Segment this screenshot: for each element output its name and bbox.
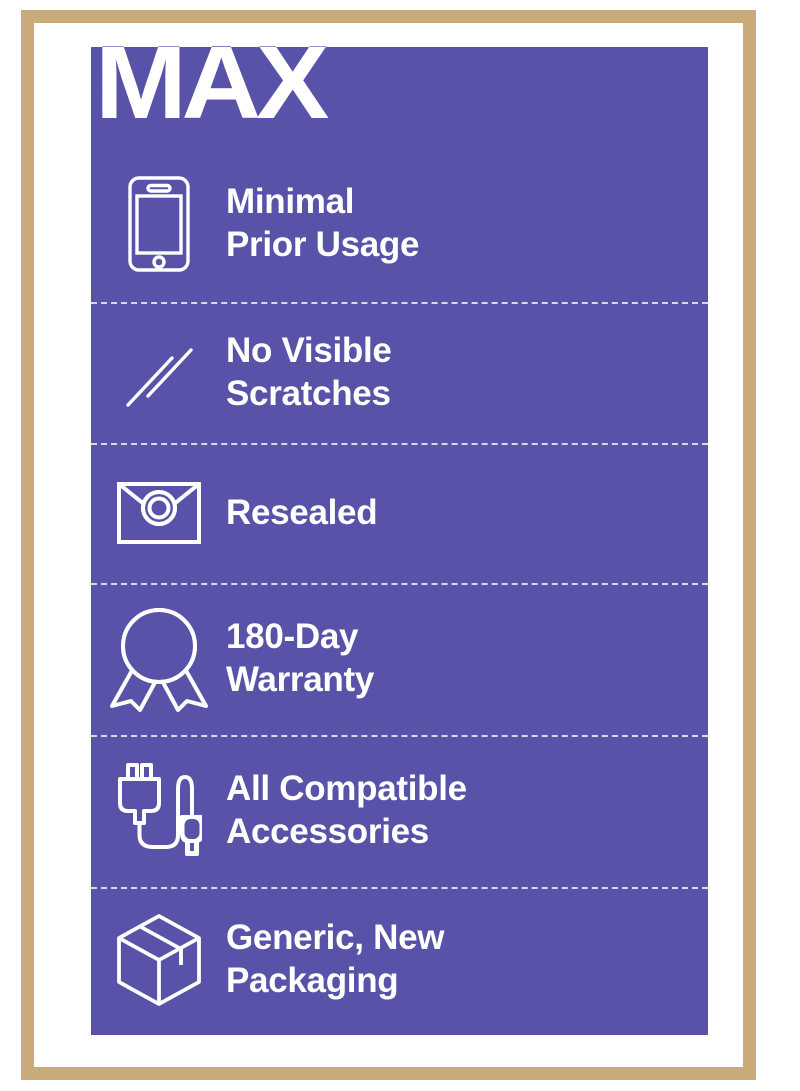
- title-wordmark-lower: MAX: [91, 47, 708, 143]
- smartphone-icon: [91, 175, 226, 273]
- feature-row-resealed: Resealed: [91, 443, 708, 583]
- page-title: MAX: [95, 47, 324, 135]
- feature-row-no-visible-scratches: No Visible Scratches: [91, 302, 708, 443]
- feature-label: No Visible Scratches: [226, 330, 392, 415]
- feature-row-minimal-prior-usage: Minimal Prior Usage: [91, 145, 708, 302]
- usb-cable-icon: [91, 761, 226, 861]
- poster-root: Minimal Prior Usage No Visible Scratches: [0, 0, 800, 1091]
- feature-label: Resealed: [226, 492, 377, 535]
- feature-row-all-compatible-accessories: All Compatible Accessories: [91, 735, 708, 887]
- sealed-envelope-icon: [91, 480, 226, 546]
- award-ribbon-icon: [91, 605, 226, 713]
- feature-row-generic-new-packaging: Generic, New Packaging: [91, 887, 708, 1033]
- feature-label: Minimal Prior Usage: [226, 181, 419, 266]
- purple-panel: Minimal Prior Usage No Visible Scratches: [91, 47, 708, 1035]
- feature-list: Minimal Prior Usage No Visible Scratches: [91, 145, 708, 1033]
- feature-row-180-day-warranty: 180-Day Warranty: [91, 583, 708, 735]
- package-box-icon: [91, 913, 226, 1007]
- scratch-lines-icon: [91, 334, 226, 412]
- feature-label: All Compatible Accessories: [226, 768, 467, 853]
- feature-label: 180-Day Warranty: [226, 616, 374, 701]
- title-wordmark-upper: MAX: [91, 0, 708, 47]
- page-title: MAX: [95, 31, 324, 47]
- feature-label: Generic, New Packaging: [226, 917, 444, 1002]
